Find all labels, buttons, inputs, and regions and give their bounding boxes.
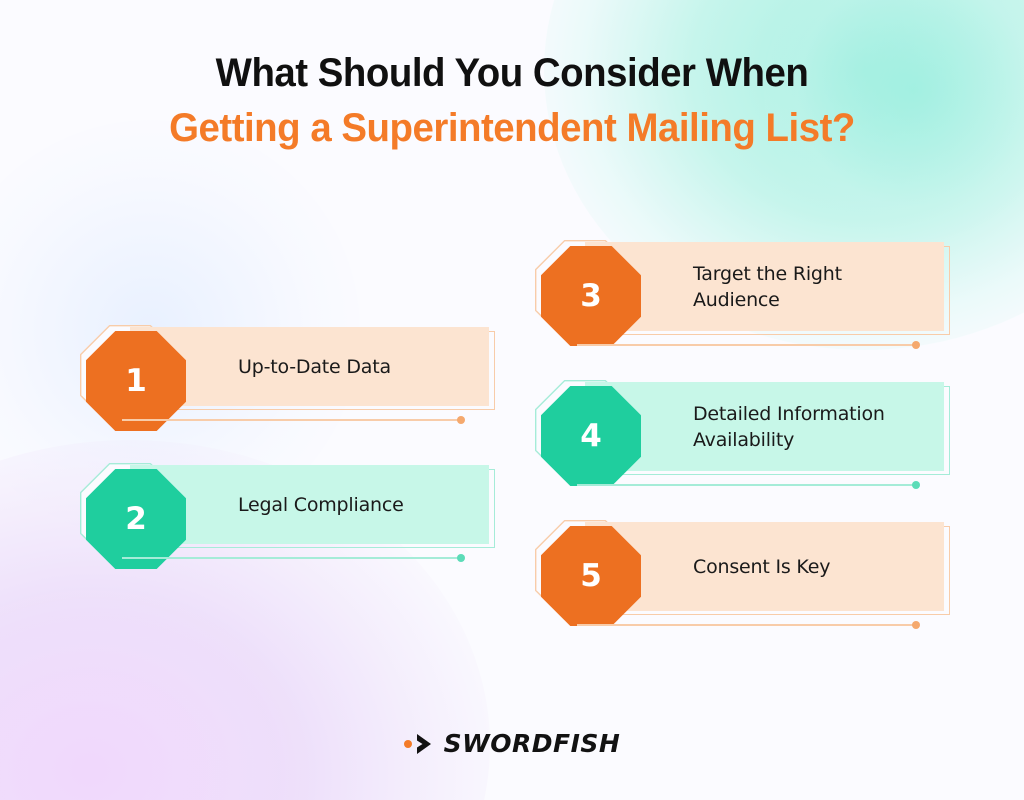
page-title: What Should You Consider When Getting a … xyxy=(0,46,1024,156)
list-item-label: Legal Compliance xyxy=(238,465,488,544)
list-item-label-line-1: Consent Is Key xyxy=(693,554,943,580)
list-item[interactable]: Detailed Information Availability 4 xyxy=(535,380,950,475)
list-item[interactable]: Up-to-Date Data 1 xyxy=(80,325,495,410)
title-line-1: What Should You Consider When xyxy=(20,46,1003,101)
step-number-badge: 3 xyxy=(541,246,641,346)
step-number-badge: 4 xyxy=(541,386,641,486)
logo-dot-icon xyxy=(404,740,412,748)
list-item[interactable]: Legal Compliance 2 xyxy=(80,463,495,548)
list-item-label: Consent Is Key xyxy=(693,522,943,611)
step-number-badge: 5 xyxy=(541,526,641,626)
list-item-label-line-2: Availability xyxy=(693,427,943,453)
underline-dot xyxy=(912,621,920,629)
card-underline xyxy=(577,484,917,486)
chevron-right-icon xyxy=(415,732,435,756)
step-number-badge: 1 xyxy=(86,331,186,431)
swordfish-mark-icon xyxy=(404,732,435,756)
card-underline xyxy=(577,624,917,626)
list-item-label-line-2: Audience xyxy=(693,287,943,313)
list-item[interactable]: Target the Right Audience 3 xyxy=(535,240,950,335)
brand-logo: SWORDFISH xyxy=(0,729,1024,758)
list-item-label-line-1: Up-to-Date Data xyxy=(238,354,488,380)
title-line-2: Getting a Superintendent Mailing List? xyxy=(20,101,1003,156)
list-item-label: Target the Right Audience xyxy=(693,242,943,331)
underline-dot xyxy=(912,341,920,349)
underline-dot xyxy=(912,481,920,489)
underline-dot xyxy=(457,416,465,424)
list-item-label-line-1: Legal Compliance xyxy=(238,492,488,518)
list-item[interactable]: Consent Is Key 5 xyxy=(535,520,950,615)
card-underline xyxy=(122,557,462,559)
list-item-label-line-1: Target the Right xyxy=(693,261,943,287)
list-item-label: Detailed Information Availability xyxy=(693,382,943,471)
brand-name: SWORDFISH xyxy=(444,729,621,758)
underline-dot xyxy=(457,554,465,562)
list-item-label: Up-to-Date Data xyxy=(238,327,488,406)
step-number-badge: 2 xyxy=(86,469,186,569)
list-item-label-line-1: Detailed Information xyxy=(693,401,943,427)
card-underline xyxy=(122,419,462,421)
card-underline xyxy=(577,344,917,346)
